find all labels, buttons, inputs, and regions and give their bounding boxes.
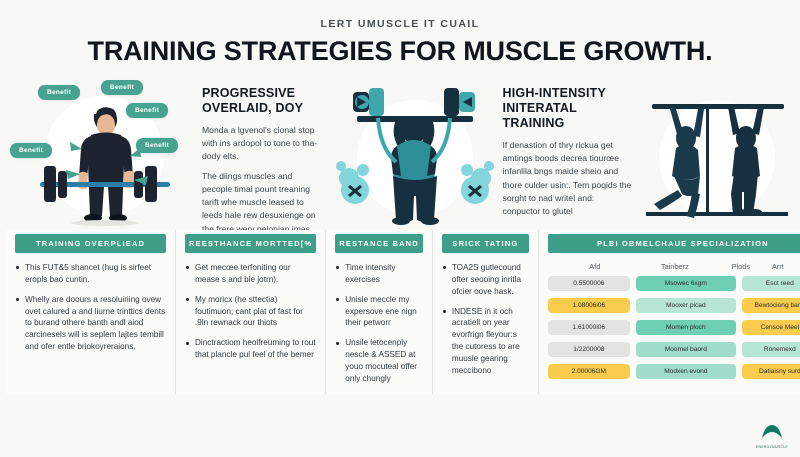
infographic-page: LERT UMUSCLE IT CUAIL TRAINING STRATEGIE… bbox=[0, 0, 800, 457]
card-resistance-method: REESTHANCE MORTTED[% Get mecœe terfoniti… bbox=[176, 230, 326, 394]
row-5-mid: Modxen evond bbox=[636, 364, 736, 379]
table-row: 1/2200008 Moomel baord Ronemexd bbox=[548, 342, 800, 357]
brand-logo-text: ENERGYMUSCLE bbox=[756, 445, 788, 449]
card-resistance-band: RESTANCE BAND Time intensity exercises U… bbox=[326, 230, 433, 394]
card-strick-training: SRICK TATING TOA2S gutlecound ofter seoo… bbox=[433, 230, 539, 394]
callout-pill-3: Benefit bbox=[101, 80, 143, 95]
column-hiit: HIGH-INTENSITY INITERATAL TRAINING If de… bbox=[495, 78, 642, 225]
pullup-illustration bbox=[642, 78, 792, 241]
table-column-header-arrt: Arrt bbox=[770, 262, 800, 271]
table-row: 1.08006i06 Mooxer picad Bewtociong band bbox=[548, 298, 800, 313]
list-item: Get mecœe terfoniting our mease s and bl… bbox=[185, 262, 316, 286]
row-1-end: Esct reed bbox=[742, 276, 800, 291]
header: LERT UMUSCLE IT CUAIL TRAINING STRATEGIE… bbox=[0, 0, 800, 66]
row-2-id: 1.08006i06 bbox=[548, 298, 630, 313]
card-1-bullets: This FUT&5 shancet (hug is sirfeet eropl… bbox=[15, 262, 166, 354]
list-item: Dinctractiom heolfreuming to rout that p… bbox=[185, 337, 316, 361]
list-item: Time intensity exercises bbox=[335, 262, 423, 286]
table-row: 1.61000i06 Momen ploch Censce Meel bbox=[548, 320, 800, 335]
overhead-press-figure-svg bbox=[333, 78, 495, 236]
pullup-figures-svg bbox=[642, 78, 792, 236]
list-item: Unisle meccle my expersove ene nign thei… bbox=[335, 294, 423, 330]
callout-pill-4: Benefit bbox=[126, 103, 168, 118]
table-header-row: Afd Tainberz Plods Arrt bbox=[548, 262, 800, 271]
footer-logo: ENERGYMUSCLE bbox=[756, 424, 788, 449]
row-5-id: 2.00006GM bbox=[548, 364, 630, 379]
table-row: 0.5500006 Msowec 6xgm Esct reed bbox=[548, 276, 800, 291]
row-1-id: 0.5500006 bbox=[548, 276, 630, 291]
card-training-overload: TRAINING OVERPLIEAD This FUT&5 shancet (… bbox=[6, 230, 176, 394]
card-2-bullets: Get mecœe terfoniting our mease s and bl… bbox=[185, 262, 316, 362]
list-item: Unsile letocenply nescle & ASSED at youo… bbox=[335, 337, 423, 385]
row-3-end: Censce Meel bbox=[742, 320, 800, 335]
column-2-paragraph-1: If denastion of thry rickua get amtings … bbox=[503, 139, 632, 217]
callout-pill-5: Benefit bbox=[136, 138, 178, 153]
row-2-end: Bewtociong band bbox=[742, 298, 800, 313]
deadlift-illustration: Benefit Benefit Benefit Benefit Benefit bbox=[8, 78, 194, 236]
table-column-header-tainberz: Tainberz bbox=[638, 262, 712, 271]
table-column-header-plods: Plods bbox=[712, 262, 770, 271]
table-column-header-afd: Afd bbox=[552, 262, 638, 271]
row-4-id: 1/2200008 bbox=[548, 342, 630, 357]
callout-pill-1: Benefit bbox=[38, 85, 80, 100]
row-4-mid: Moomel baord bbox=[636, 342, 736, 357]
row-1-mid: Msowec 6xgm bbox=[636, 276, 736, 291]
brand-logo-icon bbox=[761, 424, 783, 439]
list-item: INDESE in it och acratiell on year evorf… bbox=[442, 306, 529, 378]
list-item: This FUT&5 shancet (hug is sirfeet eropl… bbox=[15, 262, 166, 286]
card-4-heading: SRICK TATING bbox=[442, 234, 529, 253]
column-1-paragraph-1: Monda a lgvenol's cional stop with ins a… bbox=[202, 124, 323, 163]
row-5-end: Datiaisny surd bbox=[742, 364, 800, 379]
card-5-heading: PLBI OBMELCHAUE SPECIALIZATION bbox=[548, 234, 800, 253]
card-4-bullets: TOA2S gutlecound ofter seooing inritla o… bbox=[442, 262, 529, 378]
cards-row: TRAINING OVERPLIEAD This FUT&5 shancet (… bbox=[0, 226, 800, 394]
list-item: Whelly are doours a resoluiriing ovew ov… bbox=[15, 294, 166, 354]
overhead-press-illustration bbox=[333, 78, 495, 241]
list-item: TOA2S gutlecound ofter seooing inritla o… bbox=[442, 262, 529, 298]
card-1-heading: TRAINING OVERPLIEAD bbox=[15, 234, 166, 253]
card-3-heading: RESTANCE BAND bbox=[335, 234, 423, 253]
row-2-mid: Mooxer picad bbox=[636, 298, 736, 313]
feature-band: Benefit Benefit Benefit Benefit Benefit … bbox=[0, 66, 800, 226]
row-3-mid: Momen ploch bbox=[636, 320, 736, 335]
page-title: TRAINING STRATEGIES FOR MUSCLE GROWTH. bbox=[0, 37, 800, 66]
card-2-heading: REESTHANCE MORTTED[% bbox=[185, 234, 316, 253]
header-kicker: LERT UMUSCLE IT CUAIL bbox=[0, 18, 800, 30]
callout-pill-2: Benefit bbox=[10, 143, 52, 158]
list-item: My moricx (he sttectia) foutimuon; cant … bbox=[185, 294, 316, 330]
card-specialization-table: PLBI OBMELCHAUE SPECIALIZATION Afd Tainb… bbox=[539, 230, 800, 394]
row-3-id: 1.61000i06 bbox=[548, 320, 630, 335]
row-4-end: Ronemexd bbox=[742, 342, 800, 357]
column-2-title: HIGH-INTENSITY INITERATAL TRAINING bbox=[503, 86, 632, 132]
column-1-title: PROGRESSIVE OVERLAID, DOY bbox=[202, 86, 323, 117]
card-3-bullets: Time intensity exercises Unisle meccle m… bbox=[335, 262, 423, 386]
table-row: 2.00006GM Modxen evond Datiaisny surd bbox=[548, 364, 800, 379]
